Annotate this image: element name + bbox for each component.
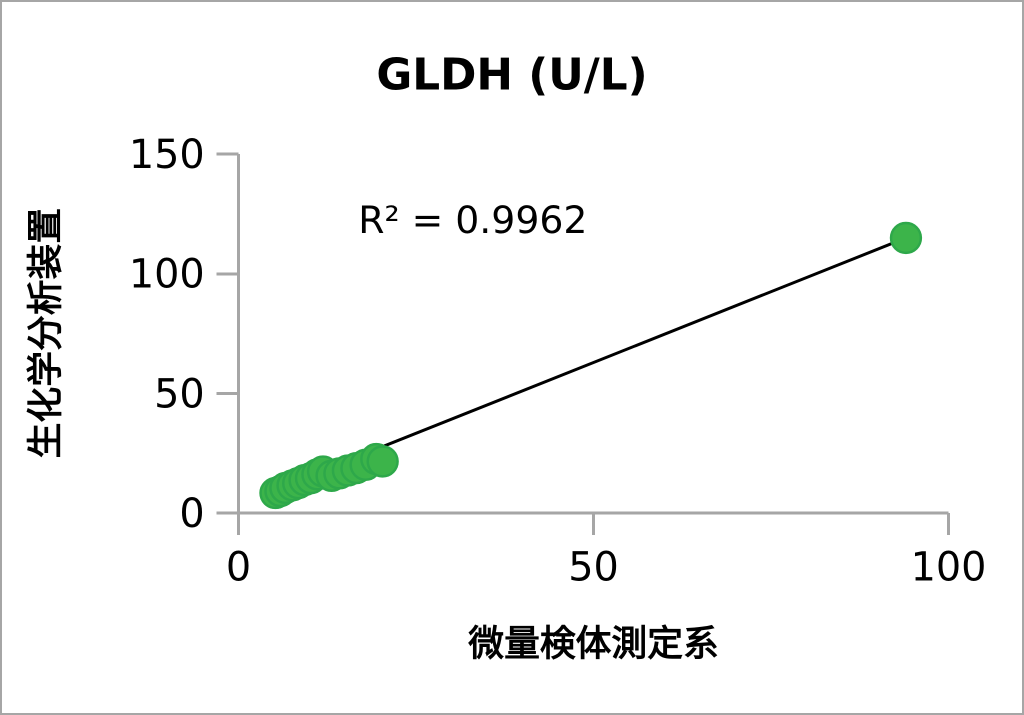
r-squared-annotation: R² = 0.9962 — [358, 198, 587, 242]
chart-title: GLDH (U/L) — [376, 50, 647, 101]
x-tick-label-0: 0 — [226, 545, 251, 591]
y-axis-ticks — [217, 154, 239, 513]
x-axis-ticks — [239, 513, 949, 535]
data-point-markers — [261, 223, 921, 508]
y-axis-title: 生化学分析装置 — [26, 208, 67, 458]
x-tick-label-100: 100 — [911, 545, 987, 591]
y-tick-label-50: 50 — [154, 371, 205, 417]
y-axis: 050100150 — [129, 132, 239, 537]
y-tick-label-0: 0 — [179, 491, 204, 537]
x-tick-label-50: 50 — [568, 545, 619, 591]
chart-container: GLDH (U/L) 050100150 050100 R² = 0.9962 … — [0, 0, 1024, 715]
x-axis-title: 微量検体測定系 — [467, 623, 718, 664]
data-point — [891, 223, 921, 253]
plot-area — [261, 223, 921, 508]
y-tick-label-100: 100 — [129, 252, 205, 298]
scatter-chart: GLDH (U/L) 050100150 050100 R² = 0.9962 … — [2, 2, 1022, 713]
x-axis: 050100 — [226, 513, 987, 591]
y-tick-label-150: 150 — [129, 132, 205, 178]
x-axis-tick-labels: 050100 — [226, 545, 987, 591]
data-point — [368, 447, 398, 477]
y-axis-tick-labels: 050100150 — [129, 132, 205, 537]
